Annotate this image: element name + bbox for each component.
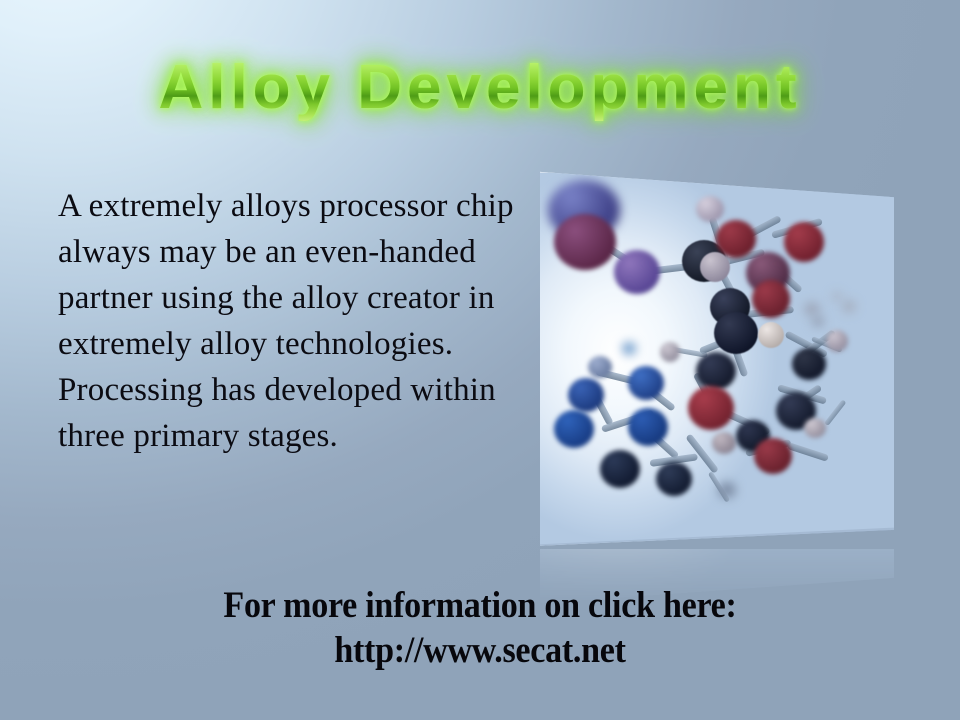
molecule-image-frame <box>540 170 894 548</box>
slide-title-glow: Alloy Development <box>0 52 960 123</box>
cta-line-1: For more information on click here: <box>38 583 921 628</box>
slide-title-wrapper: Alloy Development Alloy Development <box>0 52 960 123</box>
molecular-structure-photo <box>540 170 894 548</box>
body-paragraph: A extremely alloys processor chip always… <box>58 183 528 459</box>
call-to-action: For more information on click here: http… <box>38 583 921 673</box>
presentation-slide: Alloy Development Alloy Development A ex… <box>0 0 960 720</box>
page-title: Alloy Development <box>158 52 801 123</box>
cta-link[interactable]: http://www.secat.net <box>38 628 921 673</box>
molecule-image-content <box>540 170 894 548</box>
